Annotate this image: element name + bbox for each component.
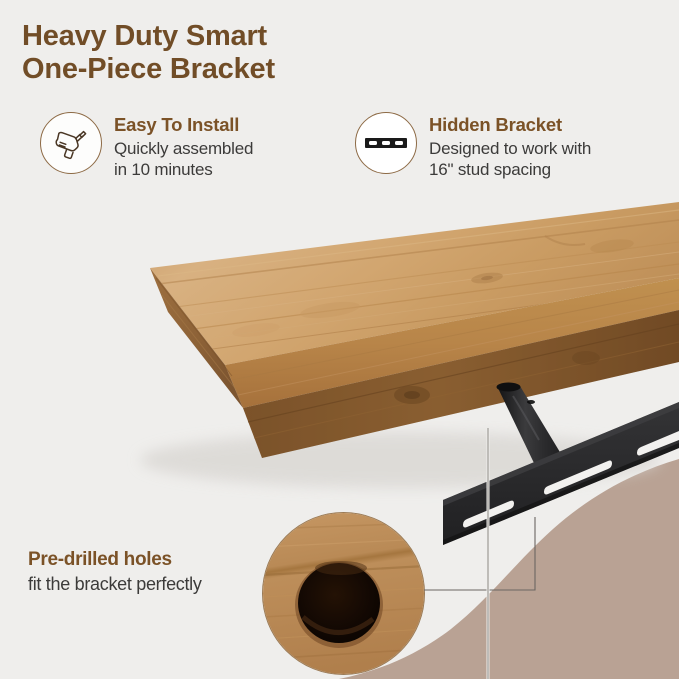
product-photo [0,190,679,550]
page-title: Heavy Duty Smart One-Piece Bracket [22,20,275,86]
feature-body: Quickly assembled in 10 minutes [114,138,253,180]
feature-hidden-bracket: Hidden Bracket Designed to work with 16"… [355,112,591,180]
feature-text-block: Hidden Bracket Designed to work with 16"… [429,112,591,180]
feature-heading: Easy To Install [114,114,253,136]
hidden-bracket-icon [355,112,417,174]
shelf-and-bracket-illustration [0,190,679,550]
drill-icon [40,112,102,174]
pre-drilled-holes-callout: Pre-drilled holes fit the bracket perfec… [28,548,202,596]
callout-body: fit the bracket perfectly [28,572,202,596]
feature-text-block: Easy To Install Quickly assembled in 10 … [114,112,253,180]
feature-heading: Hidden Bracket [429,114,591,136]
product-infographic: Heavy Duty Smart One-Piece Bracket Easy … [0,0,679,679]
feature-body: Designed to work with 16" stud spacing [429,138,591,180]
callout-heading: Pre-drilled holes [28,548,202,572]
feature-easy-to-install: Easy To Install Quickly assembled in 10 … [40,112,253,180]
detail-magnifier-circle [262,512,425,675]
